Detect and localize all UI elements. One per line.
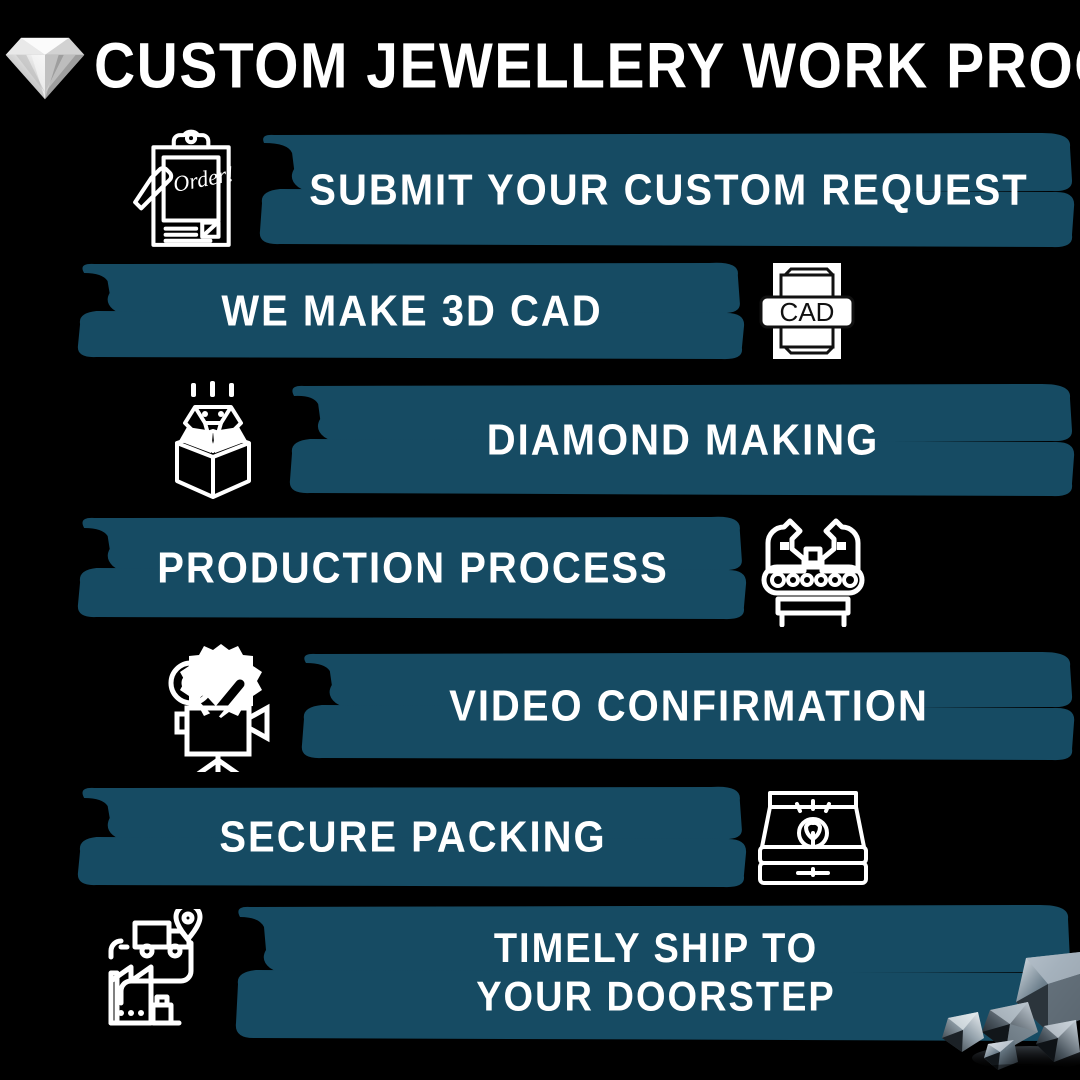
step-row-6: SECURE PACKING [76, 782, 876, 892]
cad-printer-icon: CAD [748, 258, 866, 364]
diamond-gem-icon [2, 31, 88, 101]
step-label-7-line2: YOUR DOORSTEP [232, 973, 1080, 1021]
step-banner-4[interactable]: PRODUCTION PROCESS [76, 515, 750, 621]
ring-box-icon [750, 782, 876, 892]
clipboard-order-pencil-icon: Order! [118, 126, 258, 254]
step-banner-6[interactable]: SECURE PACKING [76, 785, 750, 889]
step-label-4: PRODUCTION PROCESS [76, 542, 750, 593]
step-row-2: WE MAKE 3D CAD CAD [76, 258, 866, 364]
step-row-3: DIAMOND MAKING [150, 378, 1080, 502]
step-banner-3[interactable]: DIAMOND MAKING [286, 382, 1080, 498]
step-label-5: VIDEO CONFIRMATION [298, 680, 1080, 731]
factory-truck-delivery-icon [92, 903, 226, 1043]
step-banner-5[interactable]: VIDEO CONFIRMATION [298, 650, 1080, 762]
step-label-7-line1: TIMELY SHIP TO [232, 925, 1080, 973]
step-row-5: VIDEO CONFIRMATION [152, 636, 1080, 776]
page-title: CUSTOM JEWELLERY WORK PROCESS [94, 29, 1080, 103]
step-row-1: Order! SUBMIT YOUR CUSTOM REQUEST [118, 126, 1080, 254]
cad-icon-text: CAD [780, 297, 835, 327]
video-camera-check-icon [152, 636, 294, 776]
svg-text:Order!: Order! [171, 161, 236, 197]
step-label-3: DIAMOND MAKING [286, 414, 1080, 465]
robotic-arms-conveyor-icon [750, 508, 876, 628]
step-label-7: TIMELY SHIP TO YOUR DOORSTEP [232, 925, 1080, 1022]
step-label-6: SECURE PACKING [76, 811, 750, 862]
step-banner-1[interactable]: SUBMIT YOUR CUSTOM REQUEST [258, 131, 1080, 249]
step-row-4: PRODUCTION PROCESS [76, 508, 876, 628]
page-title-row: CUSTOM JEWELLERY WORK PROCESS [0, 16, 1080, 116]
step-label-1: SUBMIT YOUR CUSTOM REQUEST [258, 164, 1080, 215]
poster-canvas: CUSTOM JEWELLERY WORK PROCESS Order! [0, 0, 1080, 1080]
diamond-in-open-box-icon [150, 378, 280, 502]
step-banner-2[interactable]: WE MAKE 3D CAD [76, 261, 748, 361]
step-label-2: WE MAKE 3D CAD [76, 285, 748, 336]
